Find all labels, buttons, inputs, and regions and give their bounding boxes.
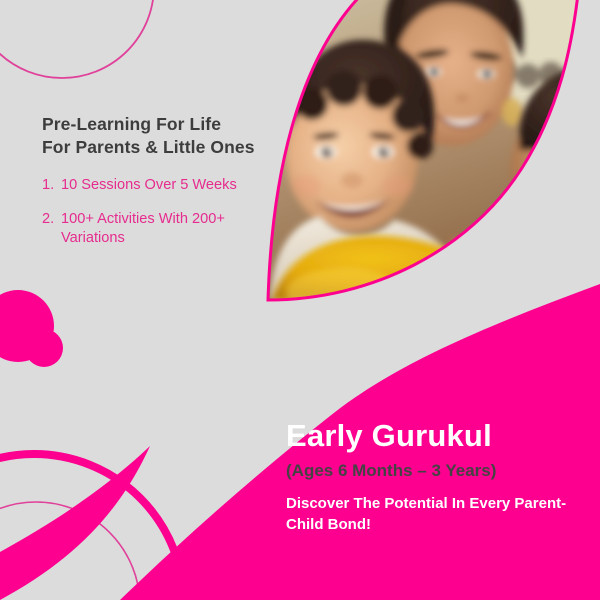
headline-line-1: Pre-Learning For Life (42, 113, 302, 136)
list-item-number: 2. (42, 210, 61, 248)
list-item: 2. 100+ Activities With 200+ Variations (42, 210, 292, 248)
list-item-number: 1. (42, 176, 61, 195)
headline: Pre-Learning For Life For Parents & Litt… (42, 113, 302, 159)
brand-age-range: (Ages 6 Months – 3 Years) (286, 462, 586, 481)
brand-title: Early Gurukul (286, 420, 586, 453)
headline-line-2: For Parents & Little Ones (42, 136, 302, 159)
brand-block: Early Gurukul (Ages 6 Months – 3 Years) … (286, 420, 586, 535)
benefits-list: 1. 10 Sessions Over 5 Weeks 2. 100+ Acti… (42, 176, 292, 263)
list-item: 1. 10 Sessions Over 5 Weeks (42, 176, 292, 195)
mid-left-blob-small-decor (25, 329, 63, 367)
list-item-text: 100+ Activities With 200+ Variations (61, 210, 292, 248)
promo-poster: Pre-Learning For Life For Parents & Litt… (0, 0, 600, 600)
list-item-text: 10 Sessions Over 5 Weeks (61, 176, 292, 195)
brand-tagline: Discover The Potential In Every Parent-C… (286, 494, 586, 535)
